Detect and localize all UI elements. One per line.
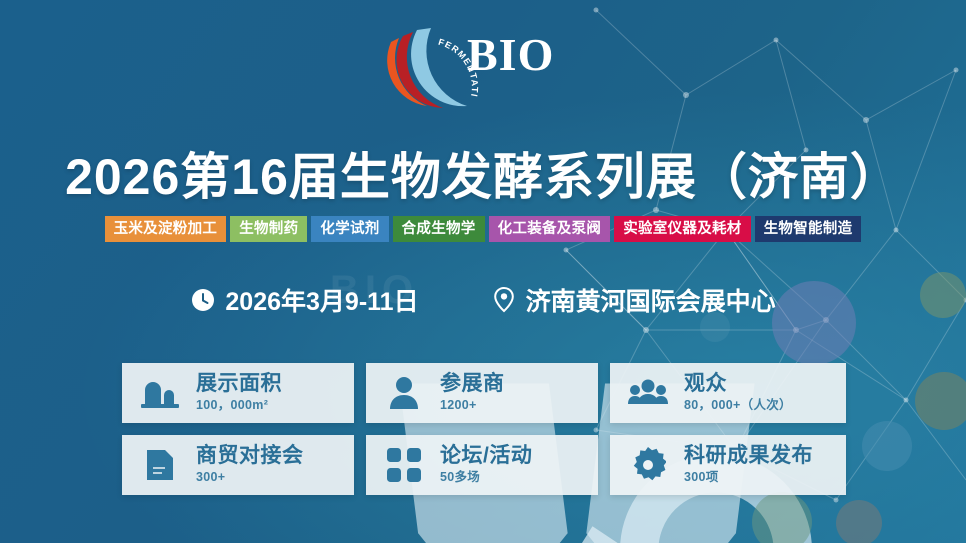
lock-node bbox=[915, 372, 966, 430]
stat-card-text: 观众80，000+（人次） bbox=[684, 373, 792, 412]
stat-card-4[interactable]: 商贸对接会300+ bbox=[122, 435, 354, 495]
microscope-node bbox=[862, 421, 912, 471]
leaf-node bbox=[752, 492, 812, 543]
stat-card-text: 科研成果发布300项 bbox=[684, 445, 813, 484]
stat-card-title: 论坛/活动 bbox=[440, 445, 532, 467]
factory-tank-icon bbox=[140, 373, 180, 413]
category-tag-4[interactable]: 合成生物学 bbox=[393, 216, 485, 242]
person-icon bbox=[384, 373, 424, 413]
document-icon bbox=[140, 445, 180, 485]
category-tag-3[interactable]: 化学试剂 bbox=[311, 216, 388, 242]
dna-node bbox=[836, 500, 882, 543]
page-title: 2026第16届生物发酵系列展（济南） bbox=[0, 137, 966, 209]
stat-card-text: 展示面积100，000m² bbox=[196, 373, 282, 412]
event-venue: 济南黄河国际会展中心 bbox=[491, 282, 776, 318]
event-date: 2026年3月9-11日 bbox=[190, 282, 418, 318]
people-group-icon bbox=[628, 373, 668, 413]
stat-card-value: 300+ bbox=[196, 471, 304, 484]
category-tag-1[interactable]: 玉米及淀粉加工 bbox=[105, 216, 227, 242]
category-tag-row: 玉米及淀粉加工生物制药化学试剂合成生物学化工装备及泵阀实验室仪器及耗材生物智能制… bbox=[0, 216, 966, 242]
stat-card-5[interactable]: 论坛/活动50多场 bbox=[366, 435, 598, 495]
stat-card-title: 科研成果发布 bbox=[684, 445, 813, 467]
event-meta: 2026年3月9-11日 济南黄河国际会展中心 bbox=[0, 282, 966, 318]
gear-icon bbox=[628, 445, 668, 485]
category-tag-7[interactable]: 生物智能制造 bbox=[755, 216, 862, 242]
stat-card-text: 参展商1200+ bbox=[440, 373, 505, 412]
event-venue-label: 济南黄河国际会展中心 bbox=[526, 282, 776, 318]
event-poster: BIO FERMENTATION BIO 2026第16届生物发酵系列展（济南）… bbox=[0, 0, 966, 543]
stat-card-3[interactable]: 观众80，000+（人次） bbox=[610, 363, 846, 423]
stat-card-title: 商贸对接会 bbox=[196, 445, 304, 467]
grid-squares-icon bbox=[384, 445, 424, 485]
event-date-label: 2026年3月9-11日 bbox=[225, 282, 418, 318]
stat-card-text: 论坛/活动50多场 bbox=[440, 445, 532, 484]
logo: FERMENTATION BIO bbox=[0, 18, 966, 114]
location-pin-icon bbox=[491, 287, 517, 313]
category-tag-5[interactable]: 化工装备及泵阀 bbox=[489, 216, 611, 242]
stat-card-value: 100，000m² bbox=[196, 399, 282, 412]
stat-card-title: 观众 bbox=[684, 373, 792, 395]
category-tag-2[interactable]: 生物制药 bbox=[230, 216, 307, 242]
stat-card-value: 1200+ bbox=[440, 399, 505, 412]
stat-card-6[interactable]: 科研成果发布300项 bbox=[610, 435, 846, 495]
stat-card-1[interactable]: 展示面积100，000m² bbox=[122, 363, 354, 423]
stats-card-grid: 展示面积100，000m²参展商1200+观众80，000+（人次）商贸对接会3… bbox=[122, 363, 846, 495]
stat-card-value: 80，000+（人次） bbox=[684, 399, 792, 412]
logo-brand-text: BIO bbox=[467, 32, 554, 78]
clock-icon bbox=[190, 287, 216, 313]
category-tag-6[interactable]: 实验室仪器及耗材 bbox=[614, 216, 750, 242]
stat-card-title: 展示面积 bbox=[196, 373, 282, 395]
stat-card-value: 300项 bbox=[684, 471, 813, 484]
stat-card-title: 参展商 bbox=[440, 373, 505, 395]
stat-card-text: 商贸对接会300+ bbox=[196, 445, 304, 484]
stat-card-2[interactable]: 参展商1200+ bbox=[366, 363, 598, 423]
stat-card-value: 50多场 bbox=[440, 471, 532, 484]
